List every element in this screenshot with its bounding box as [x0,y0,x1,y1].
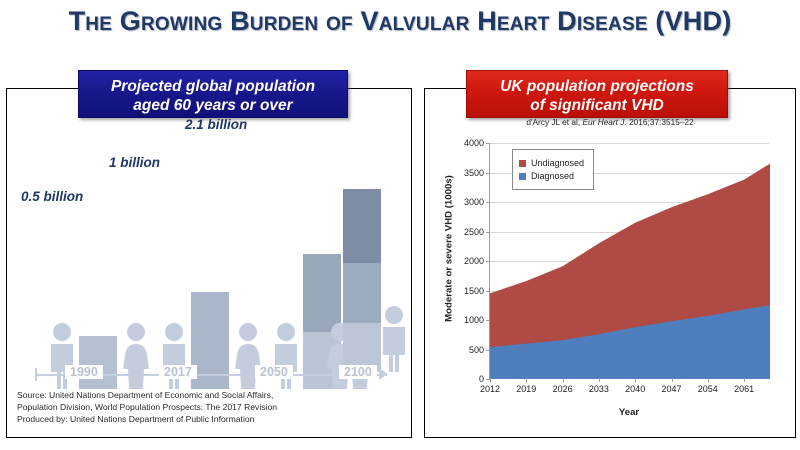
x-tick-2061: 2061 [734,384,754,394]
chart-legend: Undiagnosed Diagnosed [512,149,594,190]
x-axis-label: Year [489,407,769,418]
y-axis-label: Moderate or severe VHD (1000s) [444,149,455,349]
right-panel-banner: UK population projections of significant… [466,70,728,118]
legend-swatch-undiagnosed [519,160,526,167]
vhd-area-chart: Moderate or severe VHD (1000s) 0 500 100… [425,135,795,431]
legend-label-undiagnosed: Undiagnosed [531,158,584,168]
y-tick-1500: 1500 [464,286,484,296]
left-banner-line-1: Projected global population [89,77,337,96]
y-tick-2000: 2000 [464,256,484,266]
x-tick-2033: 2033 [589,384,609,394]
y-tick-4000: 4000 [464,138,484,148]
citation-journal: Eur Heart J. [582,117,626,127]
citation-author: d'Arcy JL et al, [526,117,580,127]
person-icon [379,304,409,372]
y-tick-2500: 2500 [464,227,484,237]
right-panel: d'Arcy JL et al, Eur Heart J. 2016;37:35… [424,88,796,438]
timeline-year-2050: 2050 [255,365,293,379]
timeline-year-2017: 2017 [159,365,197,379]
source-line-3: Produced by: United Nations Department o… [17,413,397,425]
source-line-1: Source: United Nations Department of Eco… [17,389,397,401]
x-tick-2026: 2026 [553,384,573,394]
y-tick-500: 500 [469,345,484,355]
legend-swatch-diagnosed [519,173,526,180]
y-tick-0: 0 [479,374,484,384]
source-line-2: Population Division, World Population Pr… [17,401,397,413]
x-tick-2040: 2040 [625,384,645,394]
bar-2100 [343,189,381,372]
y-tick-3500: 3500 [464,168,484,178]
timeline-year-2100: 2100 [339,365,377,379]
legend-item-diagnosed: Diagnosed [519,171,584,181]
citation: d'Arcy JL et al, Eur Heart J. 2016;37:35… [425,117,795,127]
x-tick-2012: 2012 [480,384,500,394]
x-tick-2054: 2054 [698,384,718,394]
right-banner-line-1: UK population projections [477,77,717,96]
timeline-start-cap [35,368,37,381]
y-tick-1000: 1000 [464,315,484,325]
page-title: The Growing Burden of Valvular Heart Dis… [0,6,800,37]
x-tick-2047: 2047 [661,384,681,394]
timeline-year-1990: 1990 [65,365,103,379]
right-banner-line-2: of significant VHD [477,96,717,115]
plot-area: 0 500 1000 1500 2000 2500 3000 3500 4000 [489,143,769,379]
left-panel: 0.5 billion 1 billion 2.1 billion 3.1 bi… [6,88,412,438]
legend-label-diagnosed: Diagnosed [531,171,574,181]
legend-item-undiagnosed: Undiagnosed [519,158,584,168]
y-tick-3000: 3000 [464,197,484,207]
citation-details: 2016;37:3515–22 [629,117,694,127]
x-tick-2019: 2019 [516,384,536,394]
timeline-arrow-icon [379,368,388,380]
left-panel-banner: Projected global population aged 60 year… [78,70,348,118]
source-note: Source: United Nations Department of Eco… [17,389,397,426]
left-banner-line-2: aged 60 years or over [89,96,337,115]
